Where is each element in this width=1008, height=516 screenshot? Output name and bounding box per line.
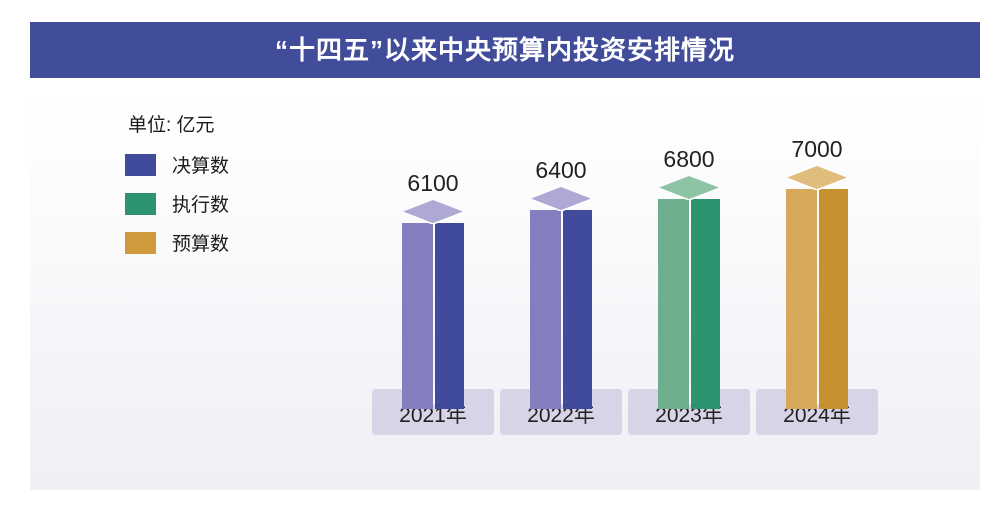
bar-column xyxy=(658,199,720,409)
bar-group: 2024年7000 xyxy=(756,88,926,490)
bar-face-right xyxy=(691,199,720,409)
bar-value-label: 7000 xyxy=(756,136,878,163)
bar-face-right xyxy=(819,189,848,409)
chart-canvas: 单位: 亿元 决算数 执行数 预算数 2021年61002022年6400202… xyxy=(30,88,980,490)
bar-face-right xyxy=(435,223,464,409)
bar-value-label: 6800 xyxy=(628,146,750,173)
bar-face-left xyxy=(658,199,689,409)
bar-face-left xyxy=(530,210,561,409)
bar-face-top xyxy=(530,187,592,211)
bar-face-left xyxy=(402,223,433,409)
bar-column xyxy=(530,210,592,409)
bar-column xyxy=(402,223,464,409)
bar-face-left xyxy=(786,189,817,409)
bar-plot-area: 2021年61002022年64002023年68002024年7000 xyxy=(30,88,980,490)
bar-face-top xyxy=(402,200,464,224)
bar-face-top xyxy=(786,166,848,190)
bar-value-label: 6400 xyxy=(500,157,622,184)
chart-title-bar: “十四五”以来中央预算内投资安排情况 xyxy=(30,22,980,78)
bar-column xyxy=(786,189,848,409)
bar-value-label: 6100 xyxy=(372,170,494,197)
bar-face-top xyxy=(658,176,720,200)
infographic-root: “十四五”以来中央预算内投资安排情况 单位: 亿元 决算数 执行数 预算数 20… xyxy=(0,0,1008,516)
page-title: “十四五”以来中央预算内投资安排情况 xyxy=(275,37,735,63)
bar-face-right xyxy=(563,210,592,409)
